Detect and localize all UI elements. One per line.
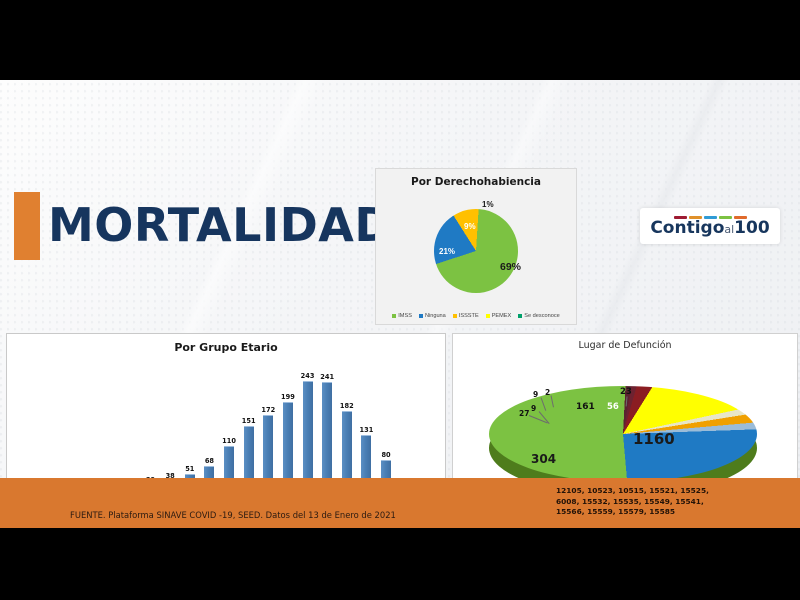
bar (303, 381, 313, 478)
logo-wordmark: Contigoal100 (650, 220, 769, 237)
chart-lugar-defuncion: Lugar de Defunción 1160 304 27 9 9 2 161… (452, 333, 798, 478)
bar-item: 68 (200, 364, 220, 478)
slice-label-issste: 9% (464, 222, 476, 231)
bar-item: 12 (121, 364, 141, 478)
bar-item: 182 (337, 364, 357, 478)
title-accent-bar (14, 192, 40, 260)
pie-3d-top (489, 386, 757, 478)
page-title: MORTALIDAD (48, 198, 393, 252)
grupo-etario-plot: 3214712293851681101511721992432411821318… (23, 364, 435, 478)
bar-item: 243 (298, 364, 318, 478)
bar (322, 382, 332, 478)
legend-swatch-icon (392, 314, 396, 318)
folio-line-3: 15566, 15559, 15579, 15585 (556, 507, 709, 518)
bar-item: 151 (239, 364, 259, 478)
bar-item: 80 (376, 364, 396, 478)
slice-label-hgtm: 27 (519, 409, 529, 418)
legend-item-ninguna: Ninguna (419, 313, 446, 319)
bar (361, 435, 371, 478)
legend-item-issste: ISSSTE (453, 313, 479, 319)
bar-item: 110 (219, 364, 239, 478)
bar-value-label: 131 (360, 426, 374, 434)
bar-item: 9 (416, 364, 436, 478)
bar-value-label: 151 (242, 417, 256, 425)
bar-item: 172 (259, 364, 279, 478)
slice-label-hgpa: 9 (533, 390, 538, 399)
legend-swatch-icon (419, 314, 423, 318)
slice-label-chmh: 304 (531, 452, 556, 466)
slice-label-ninguna: 21% (439, 247, 455, 256)
legend-item-pemex: PEMEX (486, 313, 512, 319)
lugar-defuncion-title: Lugar de Defunción (453, 340, 797, 351)
bar-item: 38 (160, 364, 180, 478)
slice-label-hgrr: 9 (531, 404, 536, 413)
bar (381, 460, 391, 478)
slide-stage: MORTALIDAD Contigoal100 Por Derechohabie… (0, 0, 800, 600)
bar (244, 426, 254, 478)
bar (263, 415, 273, 478)
bar-item: 2 (43, 364, 63, 478)
derechohabiencia-title: Por Derechohabiencia (376, 176, 576, 188)
bar-value-label: 243 (301, 372, 315, 380)
source-note: FUENTE. Plataforma SINAVE COVID -19, SEE… (70, 510, 396, 520)
bar-value-label: 51 (185, 465, 194, 473)
legend-swatch-icon (486, 314, 490, 318)
bar-series: 3214712293851681101511721992432411821318… (23, 364, 435, 478)
bar-value-label: 68 (205, 457, 214, 465)
bar (342, 411, 352, 478)
bar-value-label: 199 (281, 393, 295, 401)
bar-item: 29 (141, 364, 161, 478)
bar-item: 7 (102, 364, 122, 478)
bar-item: 241 (317, 364, 337, 478)
legend-swatch-icon (518, 314, 522, 318)
grupo-etario-title: Por Grupo Etario (7, 341, 445, 354)
bar-item: 131 (357, 364, 377, 478)
bar-value-label: 182 (340, 402, 354, 410)
chart-grupo-etario: Por Grupo Etario 32147122938516811015117… (6, 333, 446, 478)
logo-number: 100 (734, 218, 770, 238)
slice-label-imss: 69% (500, 261, 521, 273)
bar (204, 466, 214, 478)
bar-item: 51 (180, 364, 200, 478)
slice-label-domicilio: 56 (607, 402, 619, 412)
bar-item: 1 (62, 364, 82, 478)
bar (224, 446, 234, 478)
slide-canvas: MORTALIDAD Contigoal100 Por Derechohabie… (0, 80, 800, 478)
logo-al: al (724, 223, 734, 236)
legend-swatch-icon (453, 314, 457, 318)
bar-value-label: 172 (261, 406, 275, 414)
lugar-defuncion-pie: 1160 304 27 9 9 2 161 56 23 (481, 364, 767, 478)
folio-line-1: 12105, 10523, 10515, 15521, 15525, (556, 486, 709, 497)
legend-item-imss: IMSS (392, 313, 412, 319)
slice-label-hg-issste: 161 (576, 402, 595, 412)
contigo-al-100-logo: Contigoal100 (640, 208, 780, 244)
logo-brand: Contigo (650, 218, 724, 238)
folio-line-2: 6008, 15532, 15535, 15549, 15541, (556, 497, 709, 508)
bar (283, 402, 293, 478)
slice-label-hgc: 2 (545, 388, 550, 397)
bar-item: 199 (278, 364, 298, 478)
slice-label-pemex: 1% (482, 200, 494, 209)
bar-value-label: 80 (381, 451, 390, 459)
slice-label-imss: 1160 (633, 430, 675, 448)
chart-derechohabiencia: Por Derechohabiencia 69% 21% 9% 1% IMSS … (375, 168, 577, 325)
bar-value-label: 110 (222, 437, 236, 445)
legend-item-se-desconoce: Se desconoce (518, 313, 559, 319)
bar-item: 18 (396, 364, 416, 478)
derechohabiencia-legend: IMSS Ninguna ISSSTE PEMEX Se desconoce (376, 313, 576, 319)
bar-item: 3 (23, 364, 43, 478)
folio-numbers: 12105, 10523, 10515, 15521, 15525, 6008,… (556, 486, 709, 518)
bar-value-label: 241 (320, 373, 334, 381)
bar-item: 4 (82, 364, 102, 478)
